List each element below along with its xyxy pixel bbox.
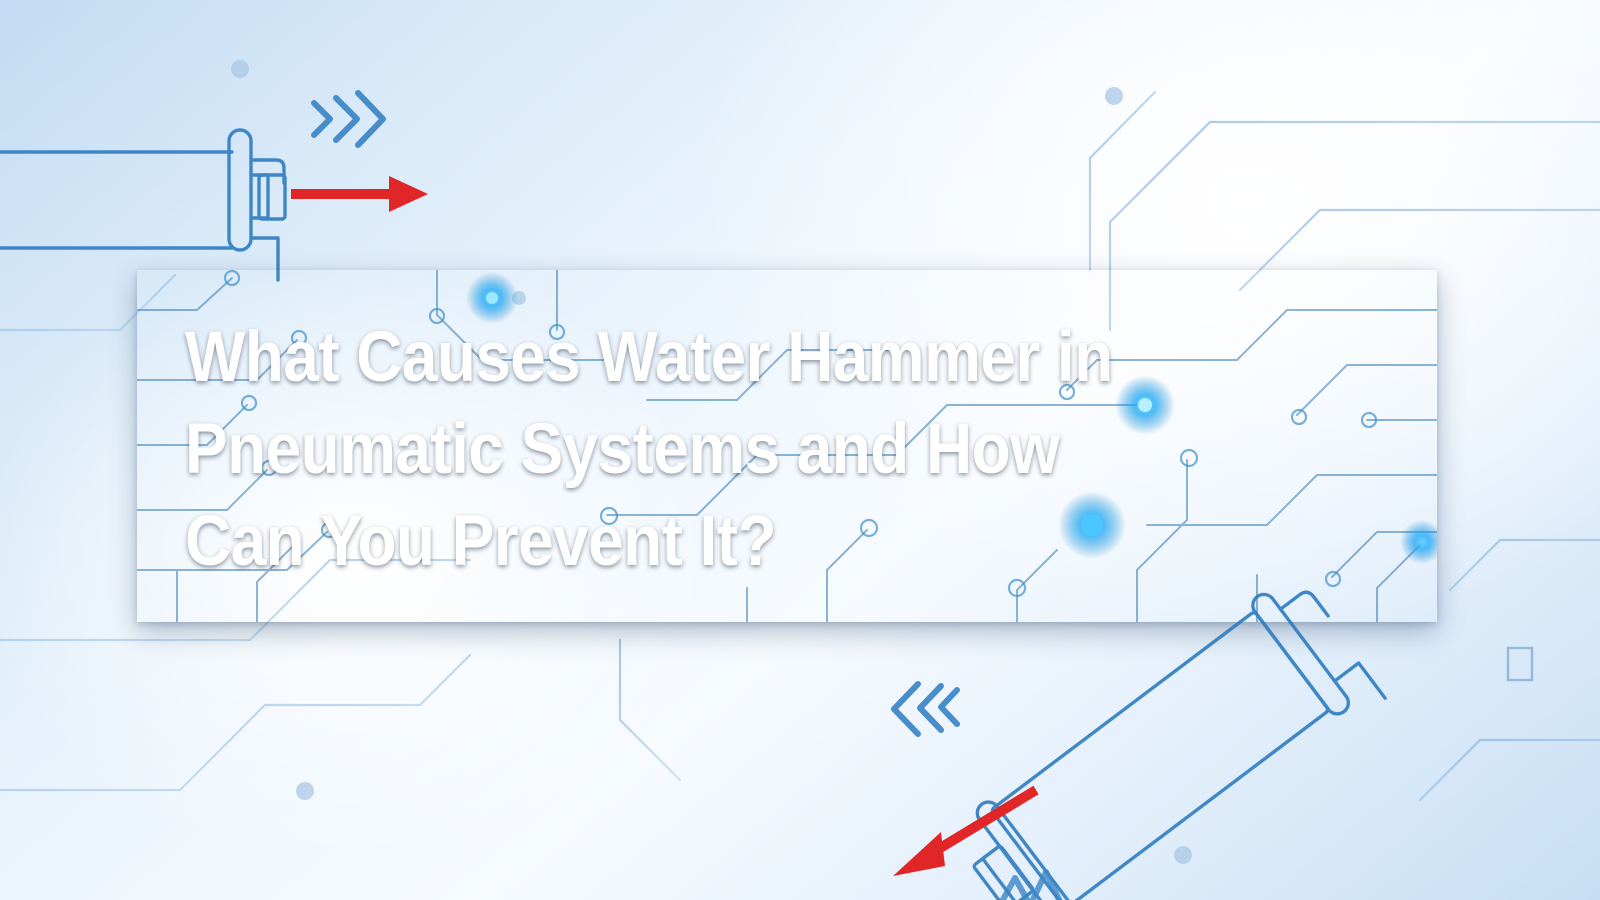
slide-canvas: What Causes Water Hammer in Pneumatic Sy… (0, 0, 1600, 900)
motion-chevrons-left (0, 0, 1600, 900)
